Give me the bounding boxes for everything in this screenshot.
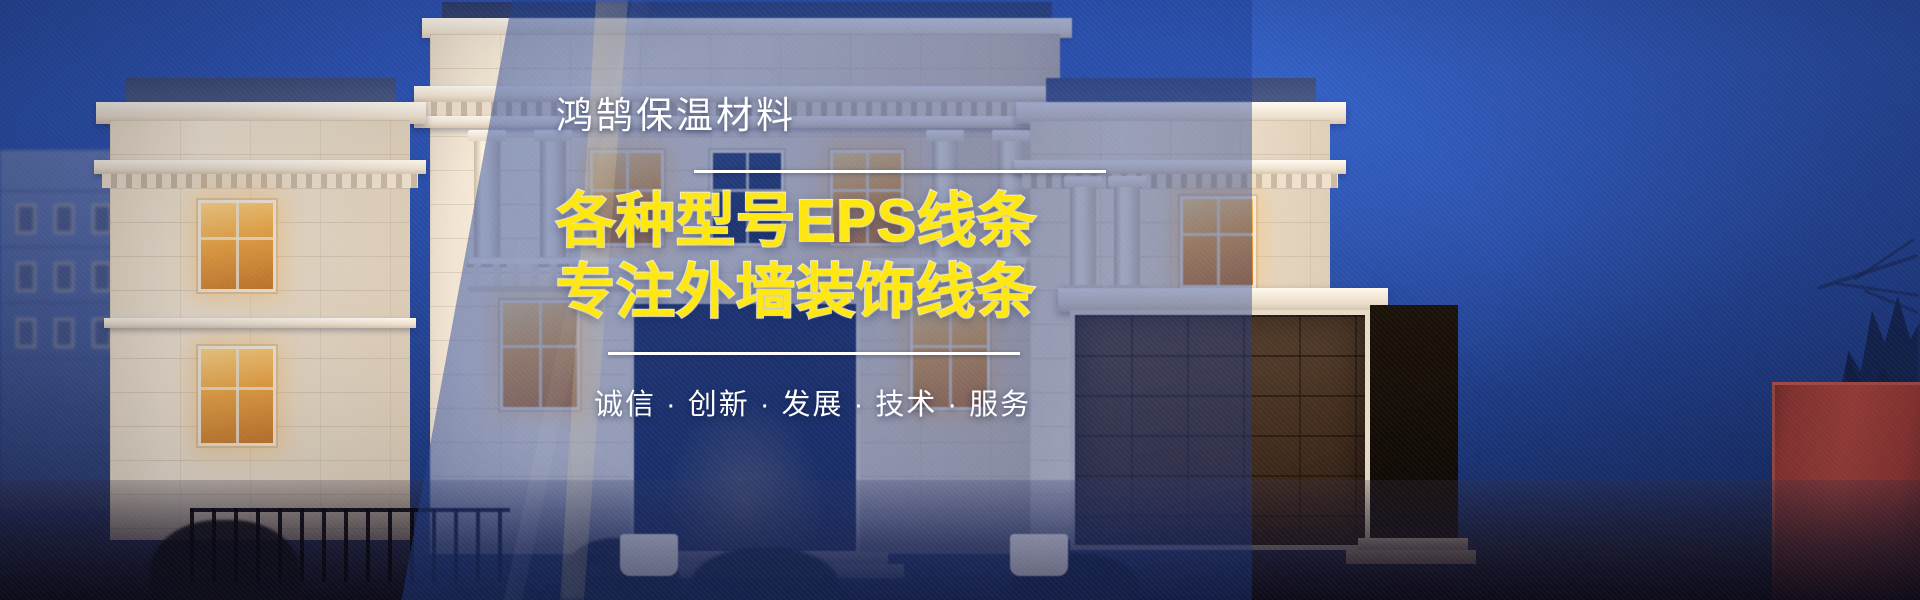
banner-copy: 鸿鹄保温材料 各种型号EPS线条 专注外墙装饰线条 诚信 · 创新 · 发展 ·… (556, 96, 1236, 423)
headline-line-2: 专注外墙装饰线条 (556, 260, 1236, 325)
lit-window (198, 200, 276, 292)
tagline: 诚信 · 创新 · 发展 · 技术 · 服务 (594, 381, 1236, 423)
lit-window (198, 346, 276, 446)
hero-banner: 鸿鹄保温材料 各种型号EPS线条 专注外墙装饰线条 诚信 · 创新 · 发展 ·… (0, 0, 1920, 600)
headline-block: 各种型号EPS线条 专注外墙装饰线条 (556, 189, 1236, 325)
divider-bottom (608, 352, 1020, 355)
headline-line-1: 各种型号EPS线条 (556, 189, 1236, 254)
divider-top (694, 170, 1106, 173)
brand-name: 鸿鹄保温材料 (556, 96, 1236, 137)
